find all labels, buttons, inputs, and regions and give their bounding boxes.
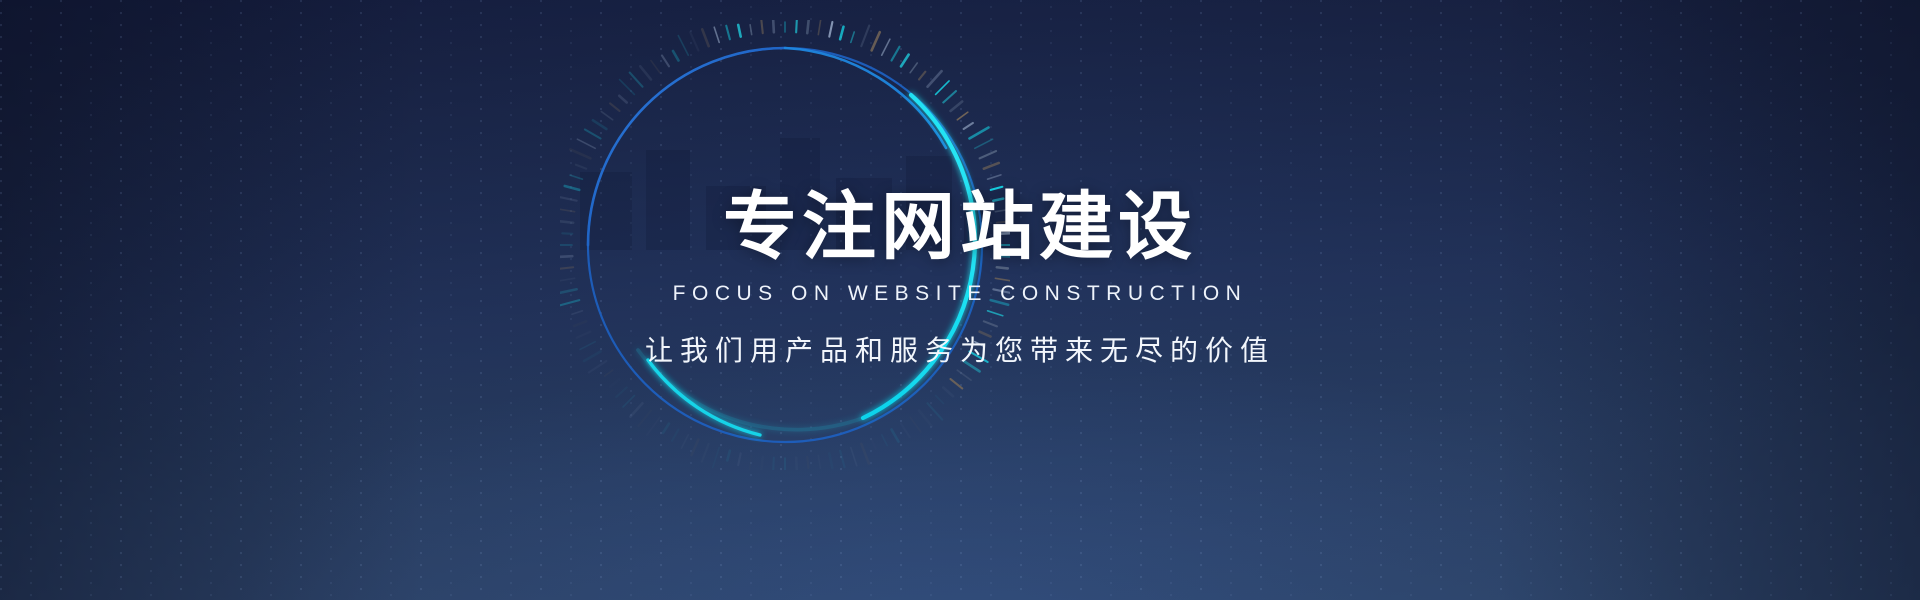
hero-banner: 专注网站建设 FOCUS ON WEBSITE CONSTRUCTION 让我们…: [0, 0, 1920, 600]
subtitle-english: FOCUS ON WEBSITE CONSTRUCTION: [673, 282, 1248, 306]
hero-content: 专注网站建设 FOCUS ON WEBSITE CONSTRUCTION 让我们…: [0, 0, 1920, 600]
tagline-chinese: 让我们用产品和服务为您带来无尽的价值: [645, 329, 1275, 369]
page-title: 专注网站建设: [723, 188, 1197, 266]
